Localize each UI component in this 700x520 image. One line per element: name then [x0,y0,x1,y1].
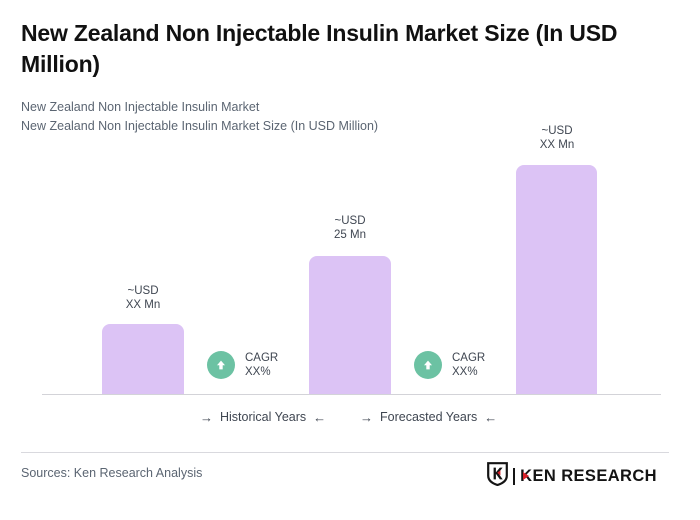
logo-accent-triangle [523,472,529,480]
bar-current-2[interactable] [309,256,391,394]
logo-wordmark-text: KEN RESEARCH [520,468,657,485]
bar-historical-1[interactable] [102,324,184,394]
cagr-historical: CAGR XX% [207,351,278,379]
arrow-left-icon: ← [313,411,326,424]
sources-text: Sources: Ken Research Analysis [21,466,202,480]
bar-label-2-line2: 25 Mn [310,228,390,242]
period-legend: → Historical Years ← → Forecasted Years … [42,410,661,430]
period-forecast: → Forecasted Years ← [360,410,497,424]
bar-label-1-line2: XX Mn [103,298,183,312]
arrow-left-icon: ← [484,411,497,424]
cagr-forecast-line2: XX% [452,365,485,379]
cagr-forecast: CAGR XX% [414,351,485,379]
bar-label-3-line1: ~USD [517,124,597,138]
cagr-historical-line1: CAGR [245,351,278,365]
arrow-up-icon [414,351,442,379]
chart-page: New Zealand Non Injectable Insulin Marke… [0,0,700,520]
bar-label-3-line2: XX Mn [517,138,597,152]
cagr-historical-text: CAGR XX% [245,351,278,379]
arrow-up-icon [207,351,235,379]
cagr-historical-line2: XX% [245,365,278,379]
shield-logo-icon [487,462,508,491]
bar-forecast-3[interactable] [516,165,597,394]
footer-divider [21,452,669,453]
period-forecast-label: Forecasted Years [380,410,477,424]
period-historical: → Historical Years ← [200,410,326,424]
logo-wordmark: KEN RESEARCH [520,468,657,485]
bar-label-2-line1: ~USD [310,214,390,228]
bar-label-1: ~USD XX Mn [103,284,183,312]
logo-divider [513,468,515,485]
plot-area: ~USD XX Mn CAGR XX% ~USD 25 Mn [0,0,700,440]
period-historical-label: Historical Years [220,410,306,424]
cagr-forecast-text: CAGR XX% [452,351,485,379]
arrow-right-icon: → [360,411,373,424]
bar-label-3: ~USD XX Mn [517,124,597,152]
cagr-forecast-line1: CAGR [452,351,485,365]
bar-label-2: ~USD 25 Mn [310,214,390,242]
ken-research-logo: KEN RESEARCH [487,462,657,491]
bar-label-1-line1: ~USD [103,284,183,298]
x-axis-baseline [42,394,661,395]
arrow-right-icon: → [200,411,213,424]
